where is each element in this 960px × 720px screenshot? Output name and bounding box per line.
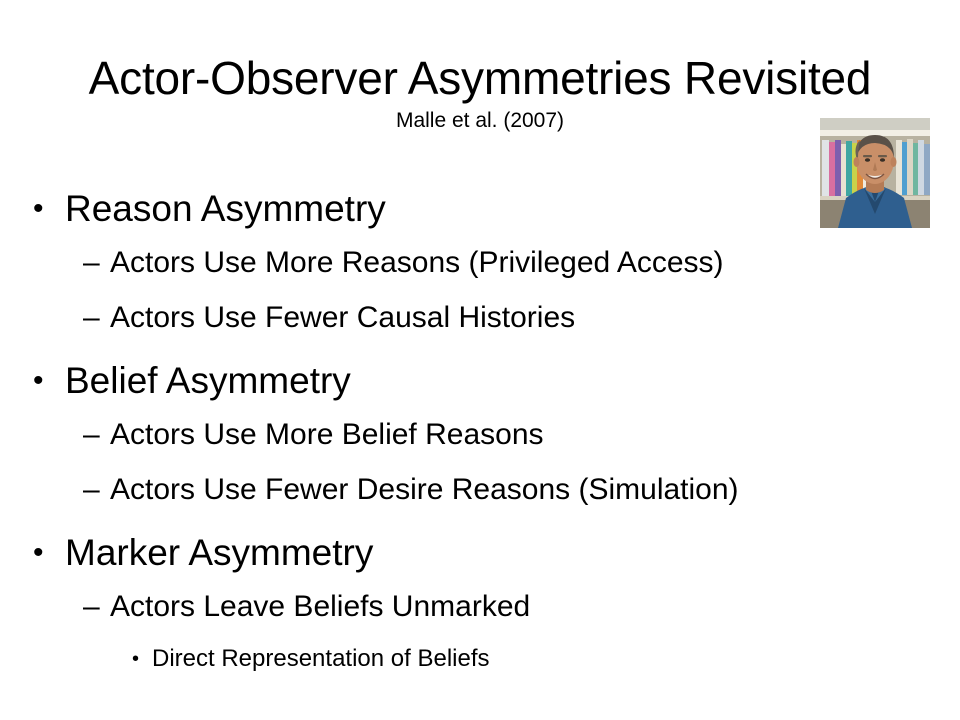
bullet-level1-belief-asymmetry: • Belief Asymmetry <box>0 358 960 414</box>
bullet-level2-actors-fewer-desire-reasons: – Actors Use Fewer Desire Reasons (Simul… <box>0 469 960 524</box>
bullet-marker-dot: • <box>33 530 44 576</box>
bullet-label: Reason Asymmetry <box>0 186 960 232</box>
bullet-label: Marker Asymmetry <box>0 530 960 576</box>
bullet-marker-dot: • <box>33 186 44 232</box>
bullet-label: Belief Asymmetry <box>0 358 960 404</box>
bullet-marker-dash: – <box>83 297 100 339</box>
bullet-label: Actors Use More Reasons (Privileged Acce… <box>0 242 960 284</box>
bullet-marker-dash: – <box>83 414 100 456</box>
bullet-label: Actors Leave Beliefs Unmarked <box>0 586 960 628</box>
bullet-level2-actors-more-reasons: – Actors Use More Reasons (Privileged Ac… <box>0 242 960 297</box>
slide-canvas: Actor-Observer Asymmetries Revisited Mal… <box>0 0 960 720</box>
bullet-marker-dot: • <box>132 641 139 677</box>
bullet-level3-direct-representation-of-beliefs: • Direct Representation of Beliefs <box>0 641 960 689</box>
bullet-label: Actors Use More Belief Reasons <box>0 414 960 456</box>
bullet-level2-actors-more-belief-reasons: – Actors Use More Belief Reasons <box>0 414 960 469</box>
bullet-marker-dot: • <box>33 358 44 404</box>
bullet-marker-dash: – <box>83 469 100 511</box>
bullet-level1-marker-asymmetry: • Marker Asymmetry <box>0 530 960 586</box>
bullet-marker-dash: – <box>83 586 100 628</box>
slide-subtitle-citation: Malle et al. (2007) <box>0 108 960 134</box>
bullet-level2-actors-fewer-causal-histories: – Actors Use Fewer Causal Histories <box>0 297 960 352</box>
title-block: Actor-Observer Asymmetries Revisited Mal… <box>0 52 960 134</box>
bullet-label: Actors Use Fewer Desire Reasons (Simulat… <box>0 469 960 511</box>
bullet-label: Actors Use Fewer Causal Histories <box>0 297 960 339</box>
bullet-list: • Reason Asymmetry – Actors Use More Rea… <box>0 186 960 689</box>
bullet-label: Direct Representation of Beliefs <box>0 641 960 677</box>
bullet-level2-actors-leave-beliefs-unmarked: – Actors Leave Beliefs Unmarked <box>0 586 960 641</box>
bullet-level1-reason-asymmetry: • Reason Asymmetry <box>0 186 960 242</box>
page-title: Actor-Observer Asymmetries Revisited <box>0 52 960 104</box>
bullet-marker-dash: – <box>83 242 100 284</box>
